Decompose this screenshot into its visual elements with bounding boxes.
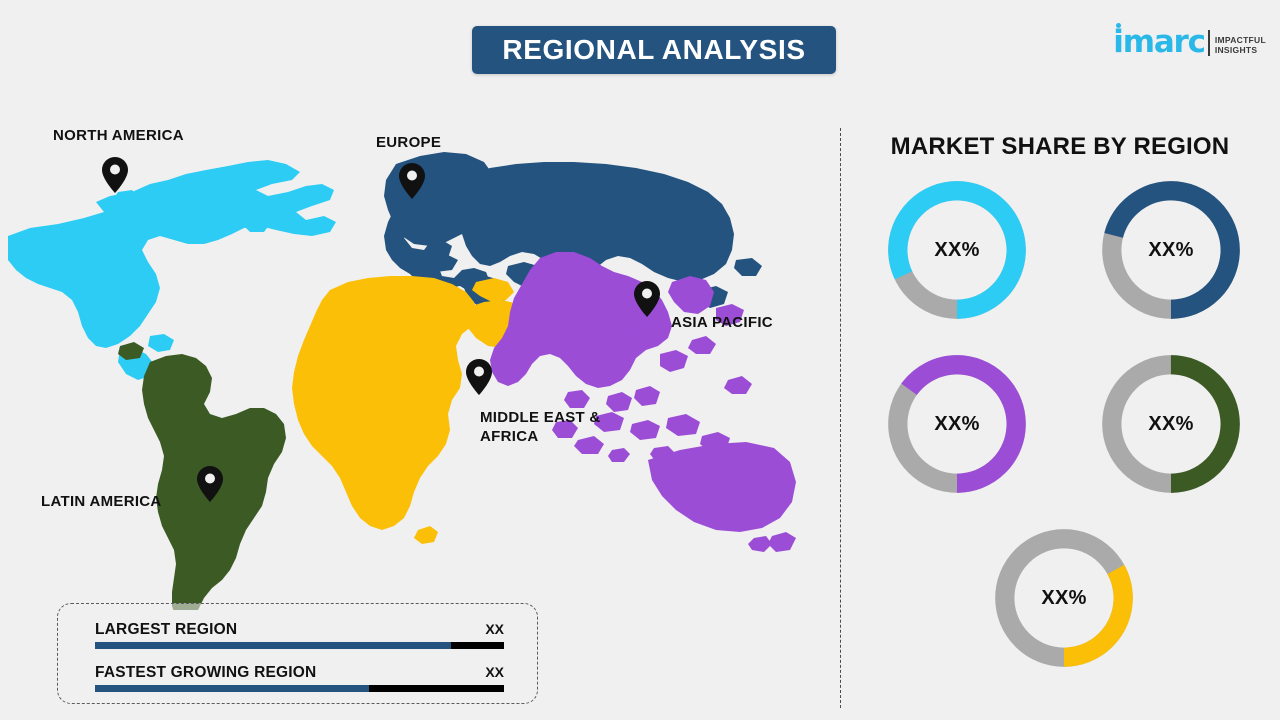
map-region-north-america — [8, 160, 336, 380]
legend-row-fastest-growing-region: FASTEST GROWING REGION XX — [95, 664, 504, 692]
donut-chart-europe: XX% — [1097, 176, 1245, 324]
legend-progress-bar — [95, 642, 504, 649]
infographic-canvas: REGIONAL ANALYSIS imarc IMPACTFUL INSIGH… — [0, 0, 1280, 720]
donut-chart-middle-east-africa: XX% — [990, 524, 1138, 672]
map-label-europe: EUROPE — [376, 133, 441, 152]
donut-chart-latin-america: XX% — [1097, 350, 1245, 498]
map-label-north-america: NORTH AMERICA — [53, 126, 184, 145]
logo-wordmark-text: imarc — [1113, 24, 1205, 60]
map-pin-north-america-icon[interactable] — [101, 156, 129, 194]
legend-progress-fill — [95, 685, 369, 692]
map-label-latin-america: LATIN AMERICA — [41, 492, 162, 511]
map-label-asia-pacific: ASIA PACIFIC — [671, 313, 773, 332]
logo-tagline-line1: IMPACTFUL — [1215, 35, 1266, 45]
legend-row-largest-region: LARGEST REGION XX — [95, 621, 504, 649]
logo-wordmark: imarc — [1113, 27, 1205, 58]
page-title: REGIONAL ANALYSIS — [502, 34, 805, 66]
donut-value-label: XX% — [883, 176, 1031, 324]
legend-progress-bar — [95, 685, 504, 692]
donut-chart-asia-pacific: XX% — [883, 350, 1031, 498]
donut-value-label: XX% — [1097, 176, 1245, 324]
map-pin-middle-east-africa-icon[interactable] — [465, 358, 493, 396]
panel-divider — [840, 128, 841, 708]
map-pin-asia-pacific-icon[interactable] — [633, 280, 661, 318]
market-share-donut-grid: XX% XX% XX% XX% — [860, 176, 1260, 696]
map-pin-europe-icon[interactable] — [398, 162, 426, 200]
legend-label: LARGEST REGION — [95, 621, 237, 639]
donut-value-label: XX% — [990, 524, 1138, 672]
region-summary-legend: LARGEST REGION XX FASTEST GROWING REGION… — [57, 603, 538, 704]
legend-value: XX — [485, 621, 504, 637]
legend-label: FASTEST GROWING REGION — [95, 664, 316, 682]
logo-divider-icon — [1208, 30, 1210, 56]
logo-tagline: IMPACTFUL INSIGHTS — [1215, 35, 1266, 58]
map-pin-latin-america-icon[interactable] — [196, 465, 224, 503]
map-label-middle-east-africa: MIDDLE EAST & AFRICA — [480, 408, 601, 446]
donut-chart-north-america: XX% — [883, 176, 1031, 324]
world-map — [0, 140, 820, 610]
imarc-logo: imarc IMPACTFUL INSIGHTS — [1113, 22, 1266, 58]
market-share-panel-title: MARKET SHARE BY REGION — [840, 133, 1280, 161]
page-title-banner: REGIONAL ANALYSIS — [472, 26, 836, 74]
legend-value: XX — [485, 664, 504, 680]
donut-value-label: XX% — [883, 350, 1031, 498]
donut-value-label: XX% — [1097, 350, 1245, 498]
logo-tagline-line2: INSIGHTS — [1215, 45, 1266, 55]
legend-progress-fill — [95, 642, 451, 649]
